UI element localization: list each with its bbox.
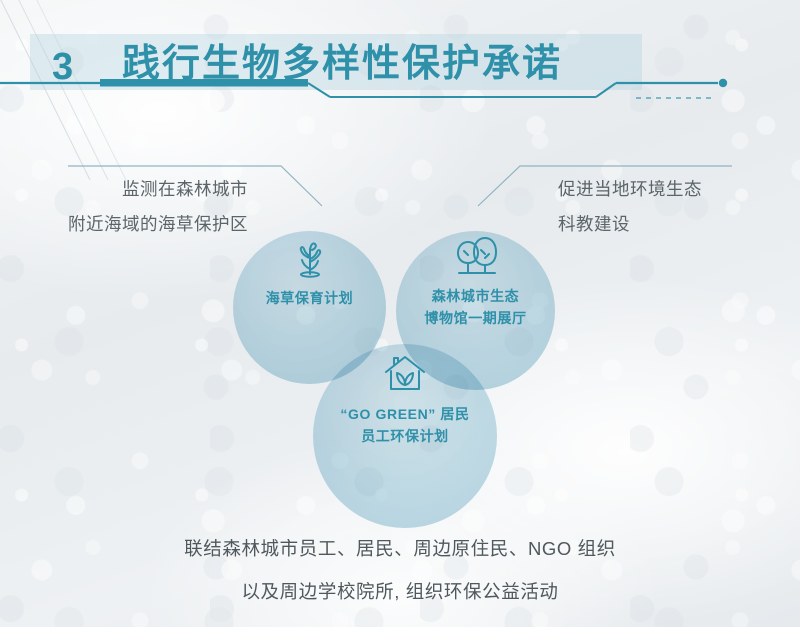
seagrass-icon [287,236,333,282]
bubble-museum-content: 森林城市生态 博物馆一期展厅 [396,234,555,329]
eco-house-icon [381,352,429,398]
bubble-go-green-label-2: 员工环保计划 [313,426,497,448]
bubble-museum-label-1: 森林城市生态 [396,286,555,308]
bubble-go-green-label-1: “GO GREEN” 居民 [313,404,497,426]
bubble-go-green-content: “GO GREEN” 居民 员工环保计划 [313,352,497,447]
bubble-seagrass-content: 海草保育计划 [233,236,386,310]
footer-line-1: 联结森林城市员工、居民、周边原住民、NGO 组织 [0,528,800,571]
two-trees-icon [451,234,501,280]
infographic-page: 3 践行生物多样性保护承诺 监测在森林城市 附近海域的海草保护区 促进当地环境生… [0,0,800,627]
bubble-seagrass-label-1: 海草保育计划 [266,290,354,306]
footer-line-2: 以及周边学校院所, 组织环保公益活动 [0,571,800,614]
bubble-museum-label-2: 博物馆一期展厅 [396,308,555,330]
footer-description: 联结森林城市员工、居民、周边原住民、NGO 组织 以及周边学校院所, 组织环保公… [0,528,800,613]
